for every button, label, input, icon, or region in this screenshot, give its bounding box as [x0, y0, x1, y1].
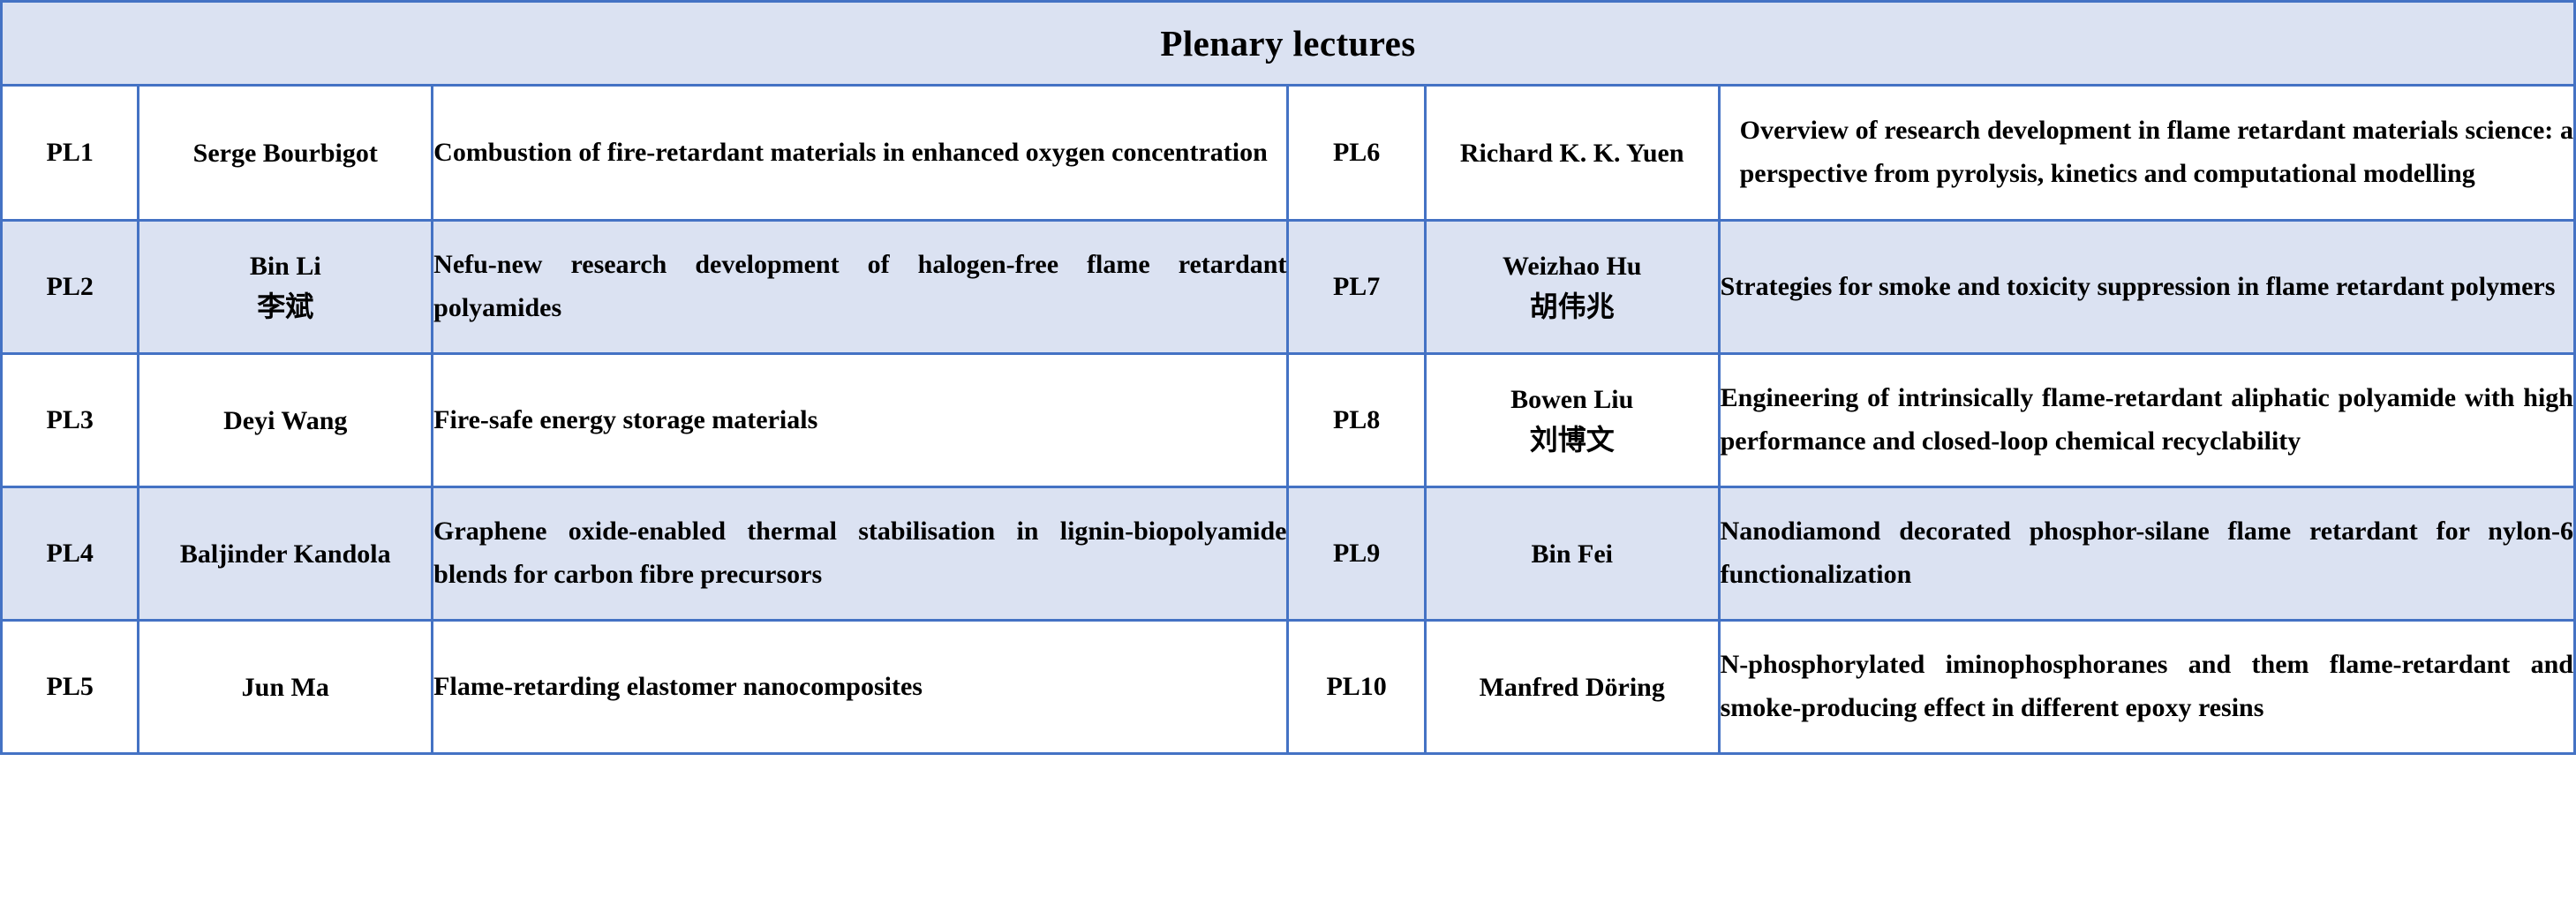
- lecture-code: PL1: [2, 86, 139, 221]
- lecture-title: Fire-safe energy storage materials: [433, 354, 1288, 487]
- speaker-name-latin: Bowen Liu: [1510, 385, 1633, 414]
- lecture-code: PL9: [1288, 487, 1425, 621]
- speaker-name-latin: Deyi Wang: [223, 406, 347, 435]
- lecture-code: PL6: [1288, 86, 1425, 221]
- speaker-name-latin: Richard K. K. Yuen: [1460, 139, 1684, 168]
- page-title: Plenary lectures: [3, 26, 2573, 62]
- table-row: PL2 Bin Li 李斌 Nefu-new research developm…: [2, 221, 2575, 354]
- table-row: PL5 Jun Ma Flame-retarding elastomer nan…: [2, 621, 2575, 754]
- lecture-code: PL4: [2, 487, 139, 621]
- lecture-title: Nefu-new research development of halogen…: [433, 221, 1288, 354]
- lecture-title: Combustion of fire-retardant materials i…: [433, 86, 1288, 221]
- lecture-title: Strategies for smoke and toxicity suppre…: [1719, 221, 2574, 354]
- lecture-code: PL5: [2, 621, 139, 754]
- table-header-cell: Plenary lectures: [2, 2, 2575, 86]
- plenary-lectures-table: Plenary lectures PL1 Serge Bourbigot Com…: [0, 0, 2576, 755]
- table-row: PL1 Serge Bourbigot Combustion of fire-r…: [2, 86, 2575, 221]
- speaker-name: Bowen Liu 刘博文: [1425, 354, 1719, 487]
- speaker-name: Baljinder Kandola: [139, 487, 433, 621]
- speaker-name-chinese: 胡伟兆: [1427, 286, 1718, 327]
- lecture-code: PL10: [1288, 621, 1425, 754]
- table-row: PL3 Deyi Wang Fire-safe energy storage m…: [2, 354, 2575, 487]
- lecture-code: PL8: [1288, 354, 1425, 487]
- lecture-title: N-phosphorylated iminophosphoranes and t…: [1719, 621, 2574, 754]
- speaker-name: Bin Li 李斌: [139, 221, 433, 354]
- speaker-name: Richard K. K. Yuen: [1425, 86, 1719, 221]
- speaker-name-chinese: 李斌: [139, 286, 431, 327]
- lecture-title: Engineering of intrinsically flame-retar…: [1719, 354, 2574, 487]
- lecture-title: Overview of research development in flam…: [1719, 86, 2574, 221]
- speaker-name: Weizhao Hu 胡伟兆: [1425, 221, 1719, 354]
- speaker-name: Bin Fei: [1425, 487, 1719, 621]
- lecture-code: PL2: [2, 221, 139, 354]
- speaker-name: Serge Bourbigot: [139, 86, 433, 221]
- speaker-name-latin: Jun Ma: [242, 673, 329, 702]
- lecture-title: Graphene oxide-enabled thermal stabilisa…: [433, 487, 1288, 621]
- lecture-title: Flame-retarding elastomer nanocomposites: [433, 621, 1288, 754]
- speaker-name-latin: Manfred Döring: [1480, 673, 1665, 702]
- speaker-name-latin: Weizhao Hu: [1503, 252, 1642, 281]
- speaker-name-latin: Serge Bourbigot: [193, 139, 378, 168]
- speaker-name-chinese: 刘博文: [1427, 419, 1718, 460]
- table-row: PL4 Baljinder Kandola Graphene oxide-ena…: [2, 487, 2575, 621]
- speaker-name: Manfred Döring: [1425, 621, 1719, 754]
- plenary-lectures-table-container: Plenary lectures PL1 Serge Bourbigot Com…: [0, 0, 2576, 920]
- table-header-row: Plenary lectures: [2, 2, 2575, 86]
- speaker-name: Deyi Wang: [139, 354, 433, 487]
- speaker-name-latin: Bin Li: [250, 252, 321, 281]
- speaker-name-latin: Bin Fei: [1531, 539, 1613, 569]
- lecture-code: PL3: [2, 354, 139, 487]
- speaker-name: Jun Ma: [139, 621, 433, 754]
- speaker-name-latin: Baljinder Kandola: [180, 539, 391, 569]
- lecture-title: Nanodiamond decorated phosphor-silane fl…: [1719, 487, 2574, 621]
- lecture-code: PL7: [1288, 221, 1425, 354]
